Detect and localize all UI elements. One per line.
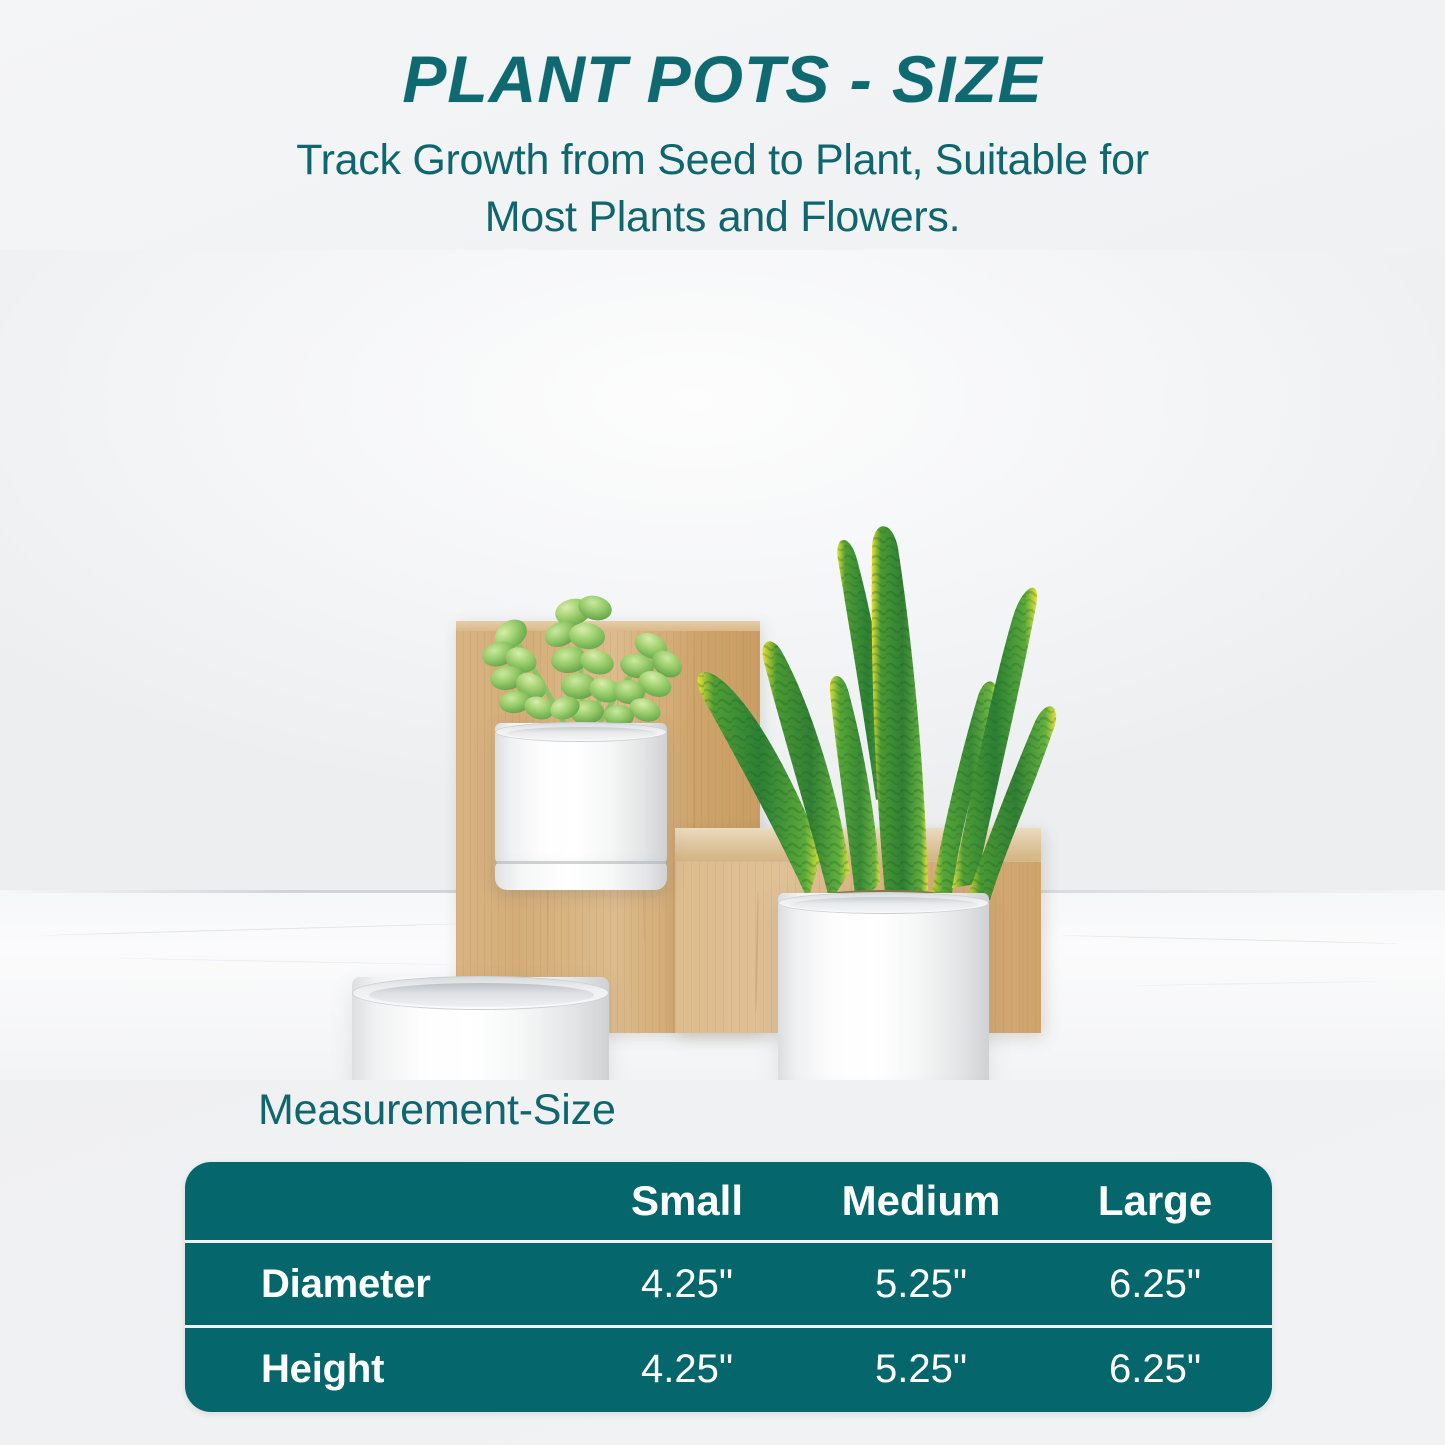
succulent-plant — [455, 550, 705, 750]
page-title: PLANT POTS - SIZE — [0, 46, 1445, 112]
height-large-value: 6.25" — [1038, 1347, 1272, 1392]
row-label-height: Height — [185, 1347, 570, 1392]
product-photo — [0, 250, 1445, 1080]
page-subtitle: Track Growth from Seed to Plant, Suitabl… — [0, 132, 1445, 246]
column-header-medium: Medium — [804, 1177, 1038, 1225]
snake-plant — [690, 500, 1090, 900]
subtitle-line-1: Track Growth from Seed to Plant, Suitabl… — [0, 132, 1445, 189]
height-small-value: 4.25" — [570, 1347, 804, 1392]
empty-plant-pot — [352, 977, 609, 1080]
header: PLANT POTS - SIZE Track Growth from Seed… — [0, 46, 1445, 246]
diameter-small-value: 4.25" — [570, 1262, 804, 1307]
table-row: Height 4.25" 5.25" 6.25" — [185, 1325, 1272, 1410]
table-header-row: Small Medium Large — [185, 1162, 1272, 1240]
column-header-large: Large — [1038, 1177, 1272, 1225]
diameter-medium-value: 5.25" — [804, 1262, 1038, 1307]
size-table: Small Medium Large Diameter 4.25" 5.25" … — [185, 1162, 1272, 1412]
infographic-page: PLANT POTS - SIZE Track Growth from Seed… — [0, 0, 1445, 1445]
large-plant-pot — [778, 893, 989, 1080]
measurement-heading: Measurement-Size — [258, 1086, 616, 1135]
diameter-large-value: 6.25" — [1038, 1262, 1272, 1307]
column-header-small: Small — [570, 1177, 804, 1225]
subtitle-line-2: Most Plants and Flowers. — [0, 189, 1445, 246]
height-medium-value: 5.25" — [804, 1347, 1038, 1392]
table-row: Diameter 4.25" 5.25" 6.25" — [185, 1240, 1272, 1325]
small-plant-pot — [495, 723, 667, 890]
row-label-diameter: Diameter — [185, 1262, 570, 1307]
